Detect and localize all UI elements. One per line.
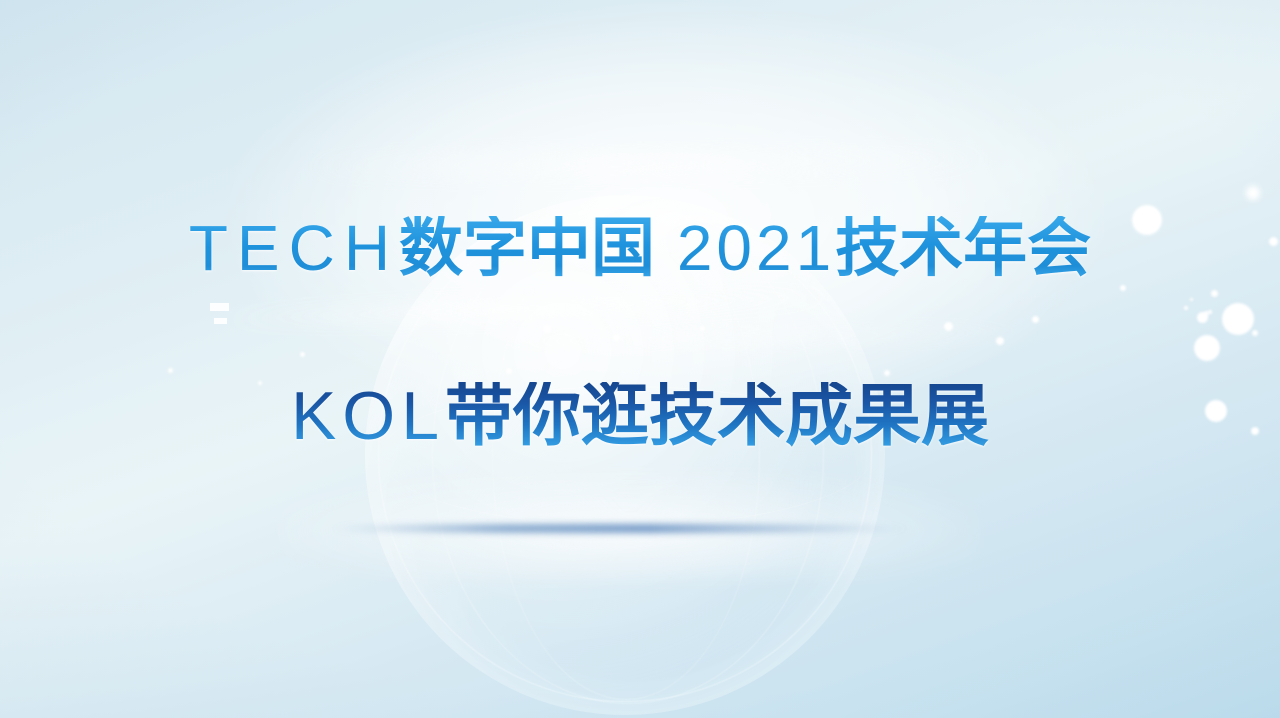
bokeh-particle	[1269, 237, 1278, 246]
bokeh-particle	[1120, 285, 1126, 291]
bokeh-particle	[1205, 400, 1227, 422]
bokeh-particle	[1252, 330, 1258, 336]
bokeh-particle	[1132, 205, 1162, 235]
bokeh-particle	[1184, 306, 1188, 310]
bokeh-particle	[1197, 312, 1208, 323]
bokeh-particle	[1246, 186, 1260, 200]
bokeh-particle	[1208, 310, 1212, 314]
bokeh-particle	[996, 337, 1004, 345]
bokeh-particle	[168, 368, 173, 373]
light-streak-top	[300, 146, 1000, 179]
event-title-latin-prefix: TECH	[189, 212, 399, 284]
bokeh-particle	[1211, 290, 1218, 297]
sparkle-square-2	[214, 318, 227, 324]
sparkle-square-1	[210, 303, 229, 311]
event-title-cjk-suffix: 技术年会	[835, 212, 1091, 284]
bokeh-particle	[1032, 316, 1039, 323]
bokeh-particle	[1190, 298, 1193, 301]
bokeh-particle	[1251, 427, 1259, 435]
bokeh-particle	[1194, 335, 1220, 361]
bokeh-particle	[300, 352, 305, 357]
bokeh-particle	[884, 370, 890, 376]
bokeh-particle	[258, 381, 262, 385]
light-beam	[330, 524, 910, 533]
bokeh-particle	[1222, 303, 1254, 335]
title-card-stage: TECH数字中国 2021技术年会 KOL带你逛技术成果展	[0, 0, 1280, 718]
bokeh-particle	[944, 322, 953, 331]
bokeh-particle	[1204, 311, 1209, 316]
